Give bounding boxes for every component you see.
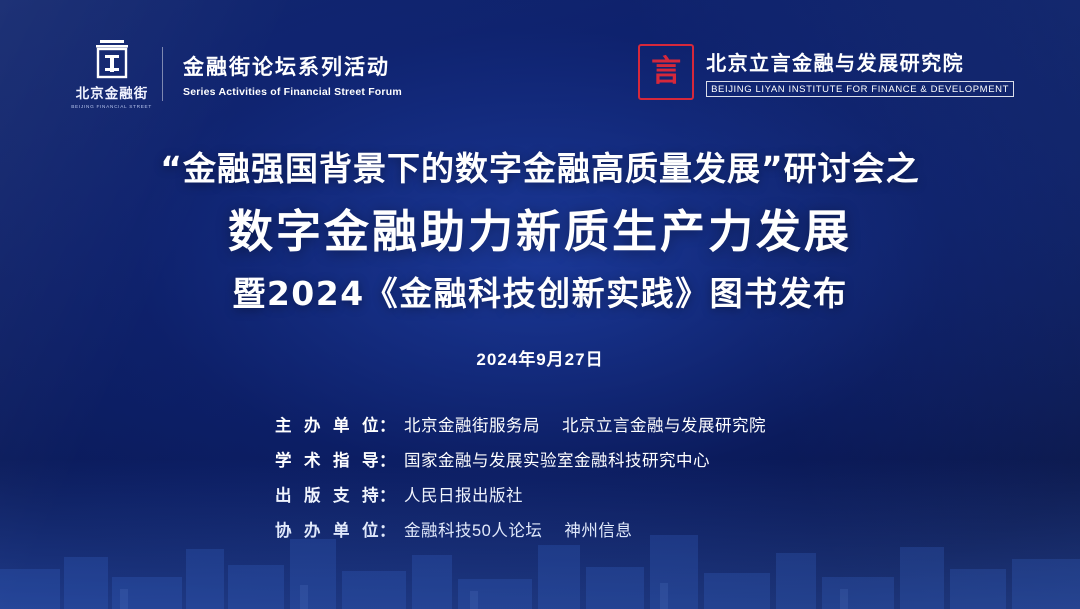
credit-label: 主办单位 bbox=[275, 412, 379, 436]
credit-value: 北京金融街服务局 bbox=[404, 412, 540, 436]
credit-label: 协办单位 bbox=[275, 517, 379, 541]
credit-value: 人民日报出版社 bbox=[404, 482, 523, 506]
liyan-org-en: BEIJING LIYAN INSTITUTE FOR FINANCE & DE… bbox=[706, 81, 1014, 97]
liyan-seal-char: 言 bbox=[651, 57, 681, 87]
poster-canvas: 北京金融街 BEIJING FINANCIAL STREET 金融街论坛系列活动… bbox=[0, 0, 1080, 609]
forum-series-text: 金融街论坛系列活动 Series Activities of Financial… bbox=[183, 51, 402, 98]
bjfs-org-en: BEIJING FINANCIAL STREET bbox=[72, 104, 153, 109]
credit-value: 金融科技50人论坛 bbox=[404, 517, 542, 541]
credit-label: 出版支持 bbox=[275, 482, 379, 506]
credit-colon: ： bbox=[379, 482, 396, 506]
forum-series-cn: 金融街论坛系列活动 bbox=[183, 51, 402, 81]
bjfs-org-cn: 北京金融街 bbox=[76, 82, 149, 102]
beijing-financial-street-logo: 北京金融街 BEIJING FINANCIAL STREET 金融街论坛系列活动… bbox=[78, 38, 402, 110]
title-line-3: 暨2024《金融科技创新实践》图书发布 bbox=[0, 273, 1080, 314]
liyan-institute-logo: 言 北京立言金融与发展研究院 BEIJING LIYAN INSTITUTE F… bbox=[638, 44, 1014, 100]
credit-values: 国家金融与发展实验室金融科技研究中心 bbox=[404, 447, 805, 471]
credit-row: 主办单位 ： 北京金融街服务局 北京立言金融与发展研究院 bbox=[275, 412, 805, 436]
credits-block: 主办单位 ： 北京金融街服务局 北京立言金融与发展研究院 学术指导 ： 国家金融… bbox=[0, 412, 1080, 541]
poster-title-block: “金融强国背景下的数字金融高质量发展”研讨会之 数字金融助力新质生产力发展 暨2… bbox=[0, 148, 1080, 370]
bjfs-seal-mark: 北京金融街 BEIJING FINANCIAL STREET bbox=[78, 38, 146, 110]
credit-colon: ： bbox=[379, 447, 396, 471]
logo-divider bbox=[162, 47, 163, 101]
credit-value: 国家金融与发展实验室金融科技研究中心 bbox=[404, 447, 710, 471]
poster-header: 北京金融街 BEIJING FINANCIAL STREET 金融街论坛系列活动… bbox=[0, 38, 1080, 116]
credit-value: 北京立言金融与发展研究院 bbox=[562, 412, 766, 436]
credit-value: 神州信息 bbox=[564, 517, 632, 541]
bjfs-seal-icon bbox=[92, 38, 132, 80]
liyan-org-cn: 北京立言金融与发展研究院 bbox=[706, 47, 1014, 76]
credit-colon: ： bbox=[379, 517, 396, 541]
forum-series-en: Series Activities of Financial Street Fo… bbox=[183, 86, 402, 98]
credit-row: 学术指导 ： 国家金融与发展实验室金融科技研究中心 bbox=[275, 447, 805, 471]
credit-values: 人民日报出版社 bbox=[404, 482, 805, 506]
liyan-text-block: 北京立言金融与发展研究院 BEIJING LIYAN INSTITUTE FOR… bbox=[706, 47, 1014, 97]
event-date: 2024年9月27日 bbox=[0, 345, 1080, 370]
title-line-1: “金融强国背景下的数字金融高质量发展”研讨会之 bbox=[0, 148, 1080, 189]
credit-label: 学术指导 bbox=[275, 447, 379, 471]
credit-values: 金融科技50人论坛 神州信息 bbox=[404, 517, 805, 541]
credit-colon: ： bbox=[379, 412, 396, 436]
title-line-2-main: 数字金融助力新质生产力发展 bbox=[0, 205, 1080, 259]
credit-row: 出版支持 ： 人民日报出版社 bbox=[275, 482, 805, 506]
liyan-seal-icon: 言 bbox=[638, 44, 694, 100]
credit-values: 北京金融街服务局 北京立言金融与发展研究院 bbox=[404, 412, 805, 436]
credit-row: 协办单位 ： 金融科技50人论坛 神州信息 bbox=[275, 517, 805, 541]
